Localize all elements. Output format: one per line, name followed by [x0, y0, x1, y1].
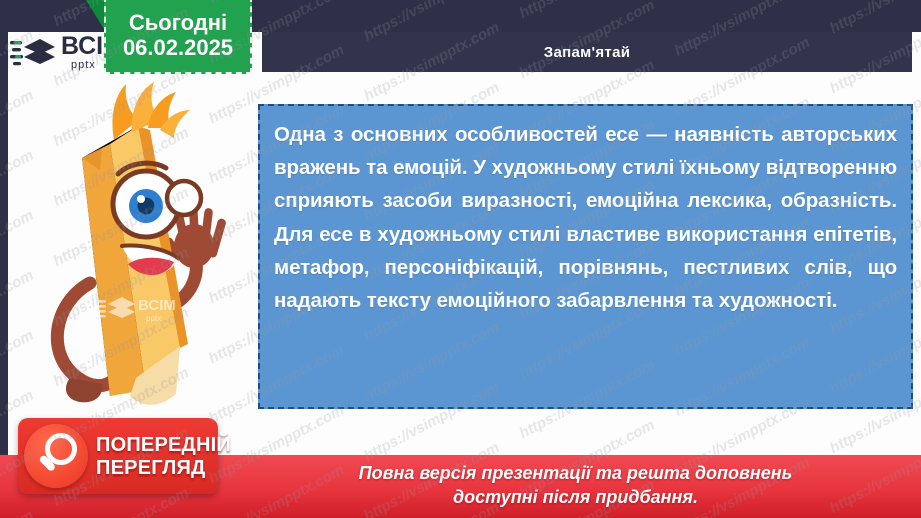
preview-badge-line-1: ПОПЕРЕДНІЙ	[96, 435, 231, 455]
pencil-mascot: ВСІМ pptx	[18, 78, 258, 438]
date-badge: Сьогодні 06.02.2025	[104, 0, 252, 74]
slide-title-bar: Запам'ятай	[262, 32, 912, 72]
left-frame-strip	[0, 0, 8, 518]
mascot-logo-name: ВСІМ	[138, 297, 176, 314]
magnifier-icon	[24, 424, 88, 488]
graduation-cap-icon	[10, 32, 56, 72]
mascot-logo-sub: pptx	[146, 314, 161, 323]
content-paragraph: Одна з основних особливостей есе — наявн…	[274, 118, 897, 317]
date-badge-label: Сьогодні	[129, 10, 227, 35]
preview-badge-line-2: ПЕРЕГЛЯД	[96, 458, 231, 478]
footer-line-2: доступні після придбання.	[453, 486, 698, 510]
date-badge-date: 06.02.2025	[123, 35, 233, 60]
slide-root: ВСІМ pptx Сьогодні 06.02.2025 Запам'ятай…	[0, 0, 921, 518]
preview-badge-labels: ПОПЕРЕДНІЙ ПЕРЕГЛЯД	[96, 435, 231, 478]
content-text-box: Одна з основних особливостей есе — наявн…	[258, 104, 913, 409]
footer-line-1: Повна версія презентації та решта доповн…	[359, 462, 793, 486]
preview-badge[interactable]: ПОПЕРЕДНІЙ ПЕРЕГЛЯД	[18, 418, 218, 494]
footer-note: Повна версія презентації та решта доповн…	[230, 457, 921, 515]
page-title: Запам'ятай	[544, 44, 630, 61]
